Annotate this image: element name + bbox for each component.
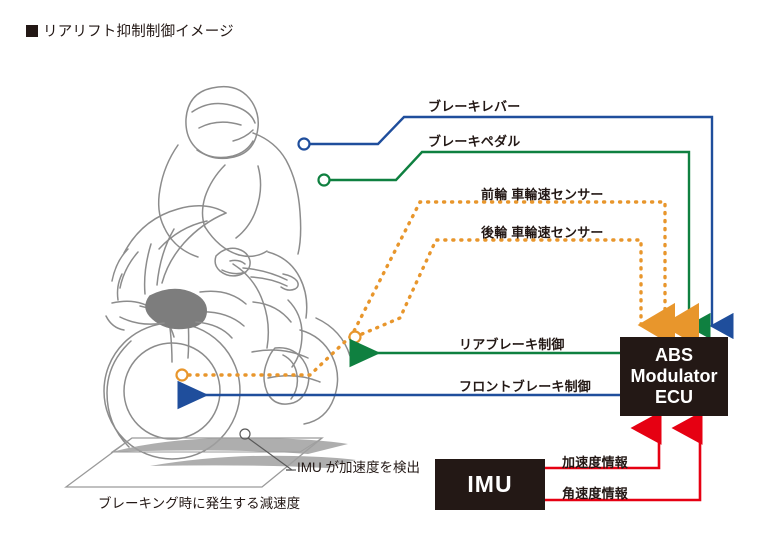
ecu-line-2: Modulator	[631, 366, 718, 387]
imu-box: IMU	[435, 459, 545, 510]
label-acceleration-info: 加速度情報	[562, 452, 628, 471]
annotation-imu-detect: IMU が加速度を検出	[297, 456, 420, 476]
label-front-brake-control: フロントブレーキ制御	[459, 376, 591, 395]
diagram-canvas: リアリフト抑制制御イメージ	[0, 0, 768, 541]
label-brake-lever: ブレーキレバー	[428, 96, 520, 115]
label-front-wheel-sensor: 前輪 車輪速センサー	[481, 184, 604, 203]
label-rear-brake-control: リアブレーキ制御	[459, 334, 565, 353]
imu-label: IMU	[467, 471, 512, 498]
label-angular-velocity-info: 角速度情報	[562, 483, 628, 502]
abs-modulator-ecu-box: ABS Modulator ECU	[620, 337, 728, 416]
ecu-line-1: ABS	[655, 345, 693, 366]
label-brake-pedal: ブレーキペダル	[428, 131, 520, 150]
label-rear-wheel-sensor: 後輪 車輪速センサー	[481, 222, 604, 241]
ecu-line-3: ECU	[655, 387, 693, 408]
wire-rear-wheel-sensor	[350, 240, 642, 343]
annotation-deceleration: ブレーキング時に発生する減速度	[98, 492, 300, 512]
